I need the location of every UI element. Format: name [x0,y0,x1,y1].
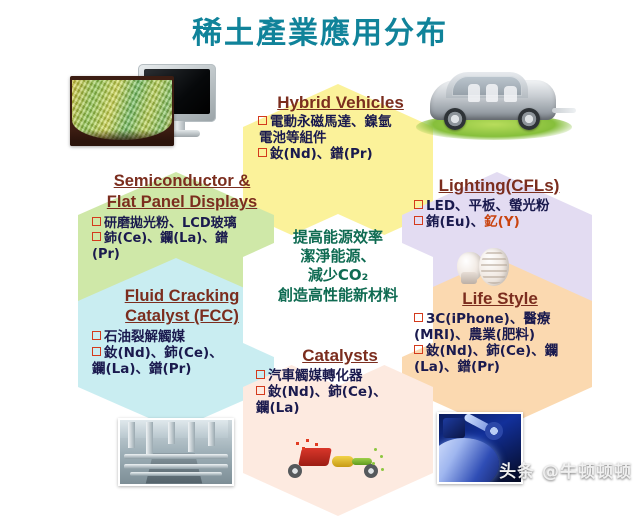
heading-semiconductor-line2: Flat Panel Displays [92,193,272,211]
bullet-square-icon [258,116,267,125]
bullet-square-icon [256,386,265,395]
list-item-continuation: (MRI)、農業(肥料) [414,328,586,344]
list-item-continuation: 電池等組件 [258,131,423,147]
center-line: 提高能源效率 [248,228,428,247]
bullet-list-life-style: 3C(iPhone)、醫療 (MRI)、農業(肥料) 釹(Nd)、鈰(Ce)、鑭… [414,312,586,376]
bullet-square-icon [258,148,267,157]
section-fluid-cracking-catalyst: Fluid Cracking Catalyst (FCC) 石油裂解觸媒 釹(N… [92,287,272,378]
bullet-list-lighting: LED、平板、螢光粉 銪(Eu)、釔(Y) [414,199,584,231]
list-item: 汽車觸媒轉化器 [256,369,424,385]
watermark: 头条 @牛顿顿顿 [499,457,632,482]
list-item: 鈰(Ce)、鑭(La)、鐠 [92,231,272,246]
list-item: 石油裂解觸媒 [92,330,272,346]
bullet-square-icon [92,331,101,340]
heading-lighting-cfls: Lighting(CFLs) [414,176,584,195]
heading-fcc-line2: Catalyst (FCC) [92,307,272,325]
heading-fcc-line1: Fluid Cracking [92,287,272,305]
page-title: 稀土產業應用分布 [0,8,640,52]
bullet-square-icon [92,232,101,241]
section-life-style: Life Style 3C(iPhone)、醫療 (MRI)、農業(肥料) 釹(… [414,289,586,376]
section-hybrid-vehicles: Hybrid Vehicles 電動永磁馬達、鎳氫 電池等組件 釹(Nd)、鐠(… [258,93,423,163]
center-message: 提高能源效率 潔淨能源、 減少CO₂ 創造高性能新材料 [248,228,428,305]
list-item: 3C(iPhone)、醫療 [414,312,586,328]
list-item: 銪(Eu)、釔(Y) [414,215,584,231]
center-line: 潔淨能源、 [248,247,428,266]
center-line: 減少CO₂ [248,266,428,285]
bullet-square-icon [92,347,101,356]
list-item: 釹(Nd)、鈰(Ce)、 [92,346,272,362]
list-item-continuation: (Pr) [92,247,272,262]
bullet-list-fcc: 石油裂解觸媒 釹(Nd)、鈰(Ce)、 鑭(La)、鐠(Pr) [92,330,272,378]
hybrid-car-image [410,62,580,148]
list-item-continuation: 鑭(La)、鐠(Pr) [92,362,272,378]
heading-semiconductor-line1: Semiconductor & [92,172,272,190]
list-item: 釹(Nd)、鐠(Pr) [258,147,423,163]
list-item: 電動永磁馬達、鎳氫 [258,115,423,131]
center-line: 創造高性能新材料 [248,286,428,305]
bullet-square-icon [414,313,423,322]
list-item: 釹(Nd)、鈰(Ce)、鑭 [414,344,586,360]
list-item: 研磨拋光粉、LCD玻璃 [92,216,272,231]
list-item: LED、平板、螢光粉 [414,199,584,215]
heading-hybrid-vehicles: Hybrid Vehicles [258,93,423,112]
refinery-image [118,418,234,486]
catalytic-converter-image [282,438,388,488]
bullet-square-icon [414,216,423,225]
silicon-wafer-image [70,76,174,146]
bullet-square-icon [414,200,423,209]
bullet-list-catalysts: 汽車觸媒轉化器 釹(Nd)、鈰(Ce)、 鑭(La) [256,369,424,417]
highlight-yttrium: 釔(Y) [484,214,520,230]
list-item-continuation: (La)、鐠(Pr) [414,360,586,376]
list-item-continuation: 鑭(La) [256,401,424,417]
list-item: 釹(Nd)、鈰(Ce)、 [256,385,424,401]
heading-catalysts: Catalysts [256,346,424,365]
section-lighting-cfls: Lighting(CFLs) LED、平板、螢光粉 銪(Eu)、釔(Y) [414,176,584,231]
bullet-square-icon [256,370,265,379]
bullet-list-semiconductor: 研磨拋光粉、LCD玻璃 鈰(Ce)、鑭(La)、鐠 (Pr) [92,216,272,262]
section-semiconductor-flat-panel-displays: Semiconductor & Flat Panel Displays 研磨拋光… [92,172,272,262]
heading-life-style: Life Style [414,289,586,308]
bullet-list-hybrid-vehicles: 電動永磁馬達、鎳氫 電池等組件 釹(Nd)、鐠(Pr) [258,115,423,163]
section-catalysts: Catalysts 汽車觸媒轉化器 釹(Nd)、鈰(Ce)、 鑭(La) [256,346,424,417]
cfl-bulb-image [455,246,525,292]
infographic-canvas: 稀土產業應用分布 Hybrid [0,0,640,490]
bullet-square-icon [92,217,101,226]
